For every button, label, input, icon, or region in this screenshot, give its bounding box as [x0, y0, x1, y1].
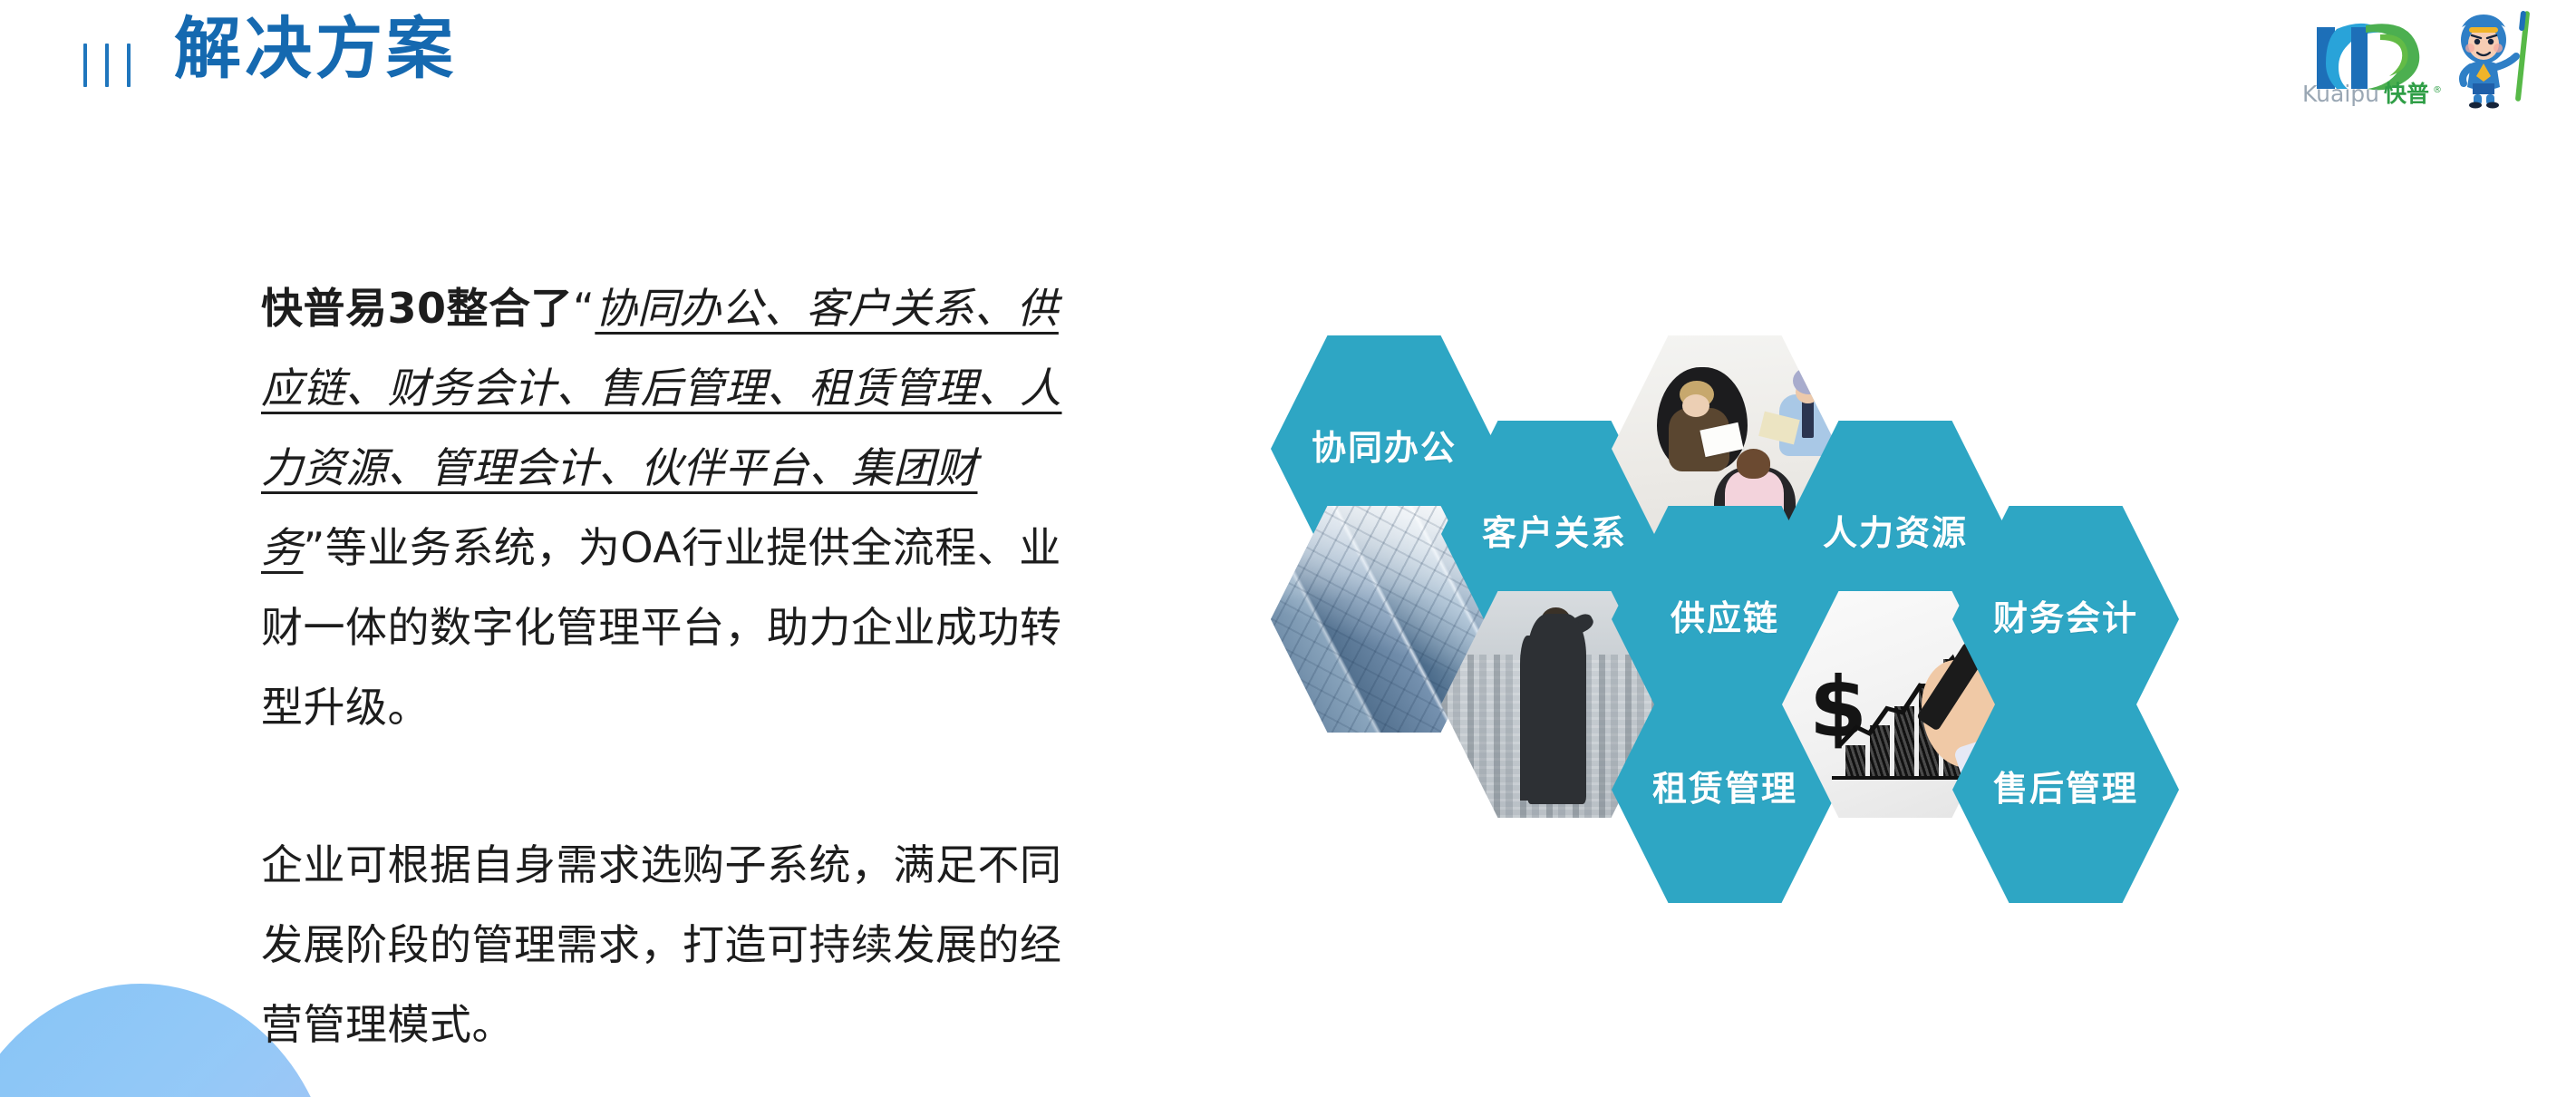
title-tick-marks-icon	[83, 44, 131, 87]
meeting-person-3-hair	[1793, 367, 1825, 394]
meeting-person-1-face	[1682, 394, 1709, 417]
hex-label: 售后管理	[1993, 769, 2138, 811]
logo-latin-name: Kuaipu	[2302, 81, 2379, 107]
hex-label: 客户关系	[1482, 513, 1627, 555]
hex-label: 人力资源	[1823, 513, 1968, 555]
paragraph-1-tail: 等业务系统，为OA行业提供全流程、业财一体的数字化管理平台，助力企业成功转型升级…	[261, 523, 1062, 732]
meeting-person-2-hair	[1737, 449, 1771, 479]
body-copy: 快普易30整合了“协同办公、客户关系、供应链、财务会计、售后管理、租赁管理、人力…	[261, 268, 1068, 1064]
paragraph-1-lead: 快普易30整合了	[261, 284, 573, 333]
businessman-arm	[1564, 610, 1595, 637]
logo-cn-name: 快普	[2384, 81, 2429, 107]
chart-baseline	[1832, 776, 1972, 780]
hex-label: 财务会计	[1993, 598, 2138, 640]
paragraph-1: 快普易30整合了“协同办公、客户关系、供应链、财务会计、售后管理、租赁管理、人力…	[261, 268, 1068, 747]
hex-label: 协同办公	[1312, 428, 1457, 470]
solution-honeycomb-diagram: 协同办公 客户关系	[1215, 299, 2484, 1097]
paragraph-2: 企业可根据自身需求选购子系统，满足不同发展阶段的管理需求，打造可持续发展的经营管…	[261, 825, 1068, 1064]
slide-canvas: 解决方案 Kuaipu 快普 ®	[0, 0, 2576, 1097]
logo-registered-mark: ®	[2433, 85, 2442, 95]
meeting-person-3-tie	[1802, 399, 1814, 438]
hex-label: 供应链	[1671, 598, 1779, 640]
businessman-head	[1541, 607, 1571, 635]
brand-logo: Kuaipu 快普 ®	[2297, 7, 2560, 109]
hex-label: 租赁管理	[1652, 769, 1797, 811]
monkey-mascot-icon	[2461, 11, 2530, 109]
quote-close: ”	[304, 523, 325, 572]
quote-open: “	[573, 284, 595, 333]
page-title: 解决方案	[174, 13, 457, 86]
